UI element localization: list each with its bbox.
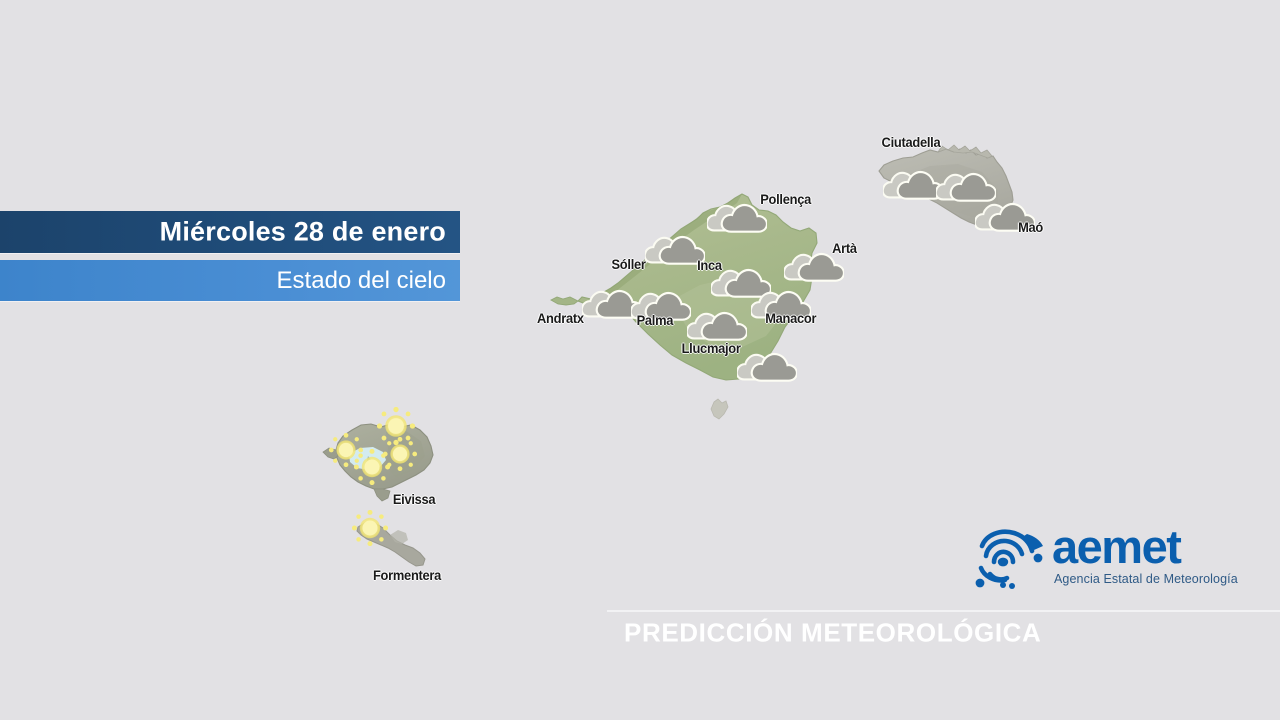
date-banner: Miércoles 28 de enero xyxy=(0,211,460,253)
aemet-tagline: Agencia Estatal de Meteorología xyxy=(1054,572,1238,586)
city-label-arta: Artà xyxy=(832,240,857,256)
forecast-title-label: PREDICCIÓN METEOROLÓGICA xyxy=(624,618,1041,649)
sky-state-banner-label: Estado del cielo xyxy=(277,267,446,295)
sky-state-banner: Estado del cielo xyxy=(0,260,460,301)
date-banner-label: Miércoles 28 de enero xyxy=(160,217,446,248)
city-label-formentera: Formentera xyxy=(373,567,441,583)
city-label-inca: Inca xyxy=(697,257,722,273)
city-label-mao: Maó xyxy=(1018,219,1043,235)
weather-forecast-screen: Pollença Sóller Inca Artà Andratx Palma … xyxy=(0,0,1280,720)
forecast-title-banner: PREDICCIÓN METEOROLÓGICA xyxy=(607,610,1280,654)
aemet-swirl-icon xyxy=(972,524,1046,590)
city-label-manacor: Manacor xyxy=(765,310,816,326)
aemet-wordmark: aemet xyxy=(1052,522,1180,572)
aemet-logo: aemet Agencia Estatal de Meteorología xyxy=(972,522,1222,592)
city-label-ciutadella: Ciutadella xyxy=(882,134,941,150)
city-label-pollenca: Pollença xyxy=(760,191,811,207)
city-label-palma: Palma xyxy=(637,312,674,328)
city-label-llucmajor: Llucmajor xyxy=(682,340,741,356)
city-label-eivissa: Eivissa xyxy=(393,491,435,507)
city-label-andratx: Andratx xyxy=(537,310,584,326)
city-label-soller: Sóller xyxy=(611,256,645,272)
